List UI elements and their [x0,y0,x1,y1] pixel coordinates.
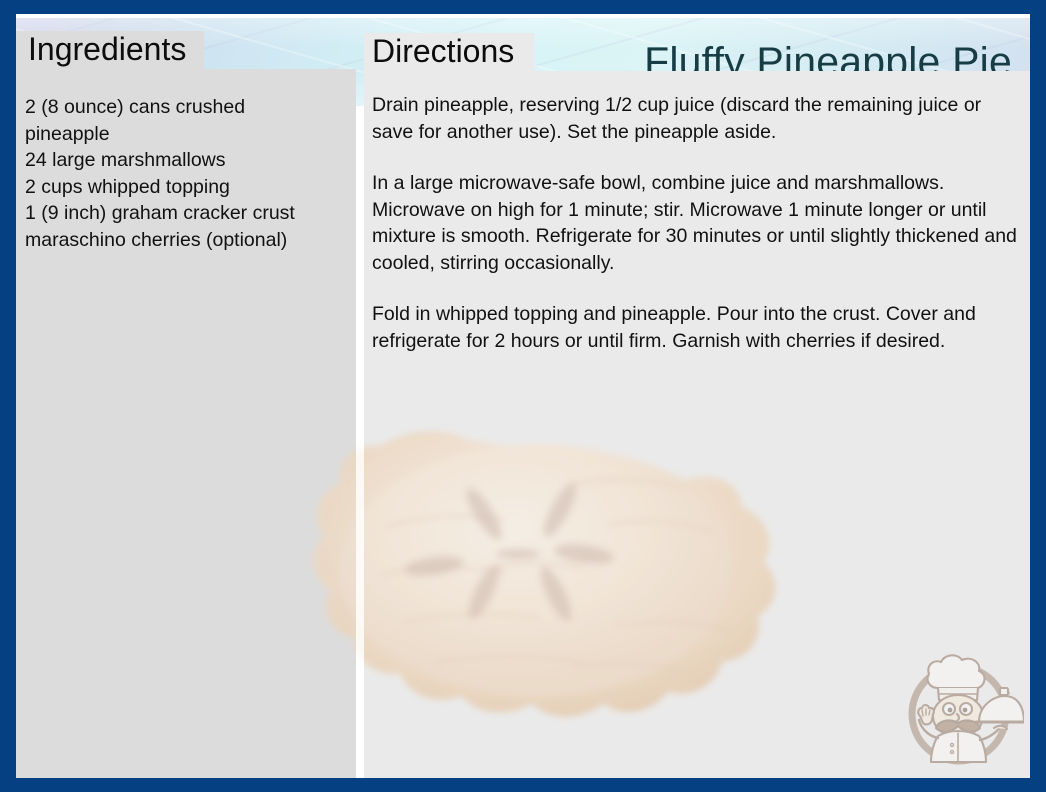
recipe-slide: Fluffy Pineapple Pie [0,0,1046,792]
list-item: 24 large marshmallows [25,147,355,174]
list-item: 2 cups whipped topping [25,174,355,201]
chef-mascot-logo [894,644,1024,772]
ingredients-list: 2 (8 ounce) cans crushed pineapple 24 la… [25,94,355,253]
directions-list: Drain pineapple, reserving 1/2 cup juice… [372,92,1026,354]
list-item: 2 (8 ounce) cans crushed [25,94,355,121]
directions-heading: Directions [372,33,514,70]
list-item: 1 (9 inch) graham cracker crust [25,200,355,227]
list-item: pineapple [25,121,355,148]
direction-step: Fold in whipped topping and pineapple. P… [372,301,1026,354]
list-item: maraschino cherries (optional) [25,227,355,254]
slide-canvas: Fluffy Pineapple Pie [16,14,1030,778]
direction-step: Drain pineapple, reserving 1/2 cup juice… [372,92,1026,145]
direction-step: In a large microwave-safe bowl, combine … [372,170,1026,276]
ingredients-heading: Ingredients [28,31,186,68]
